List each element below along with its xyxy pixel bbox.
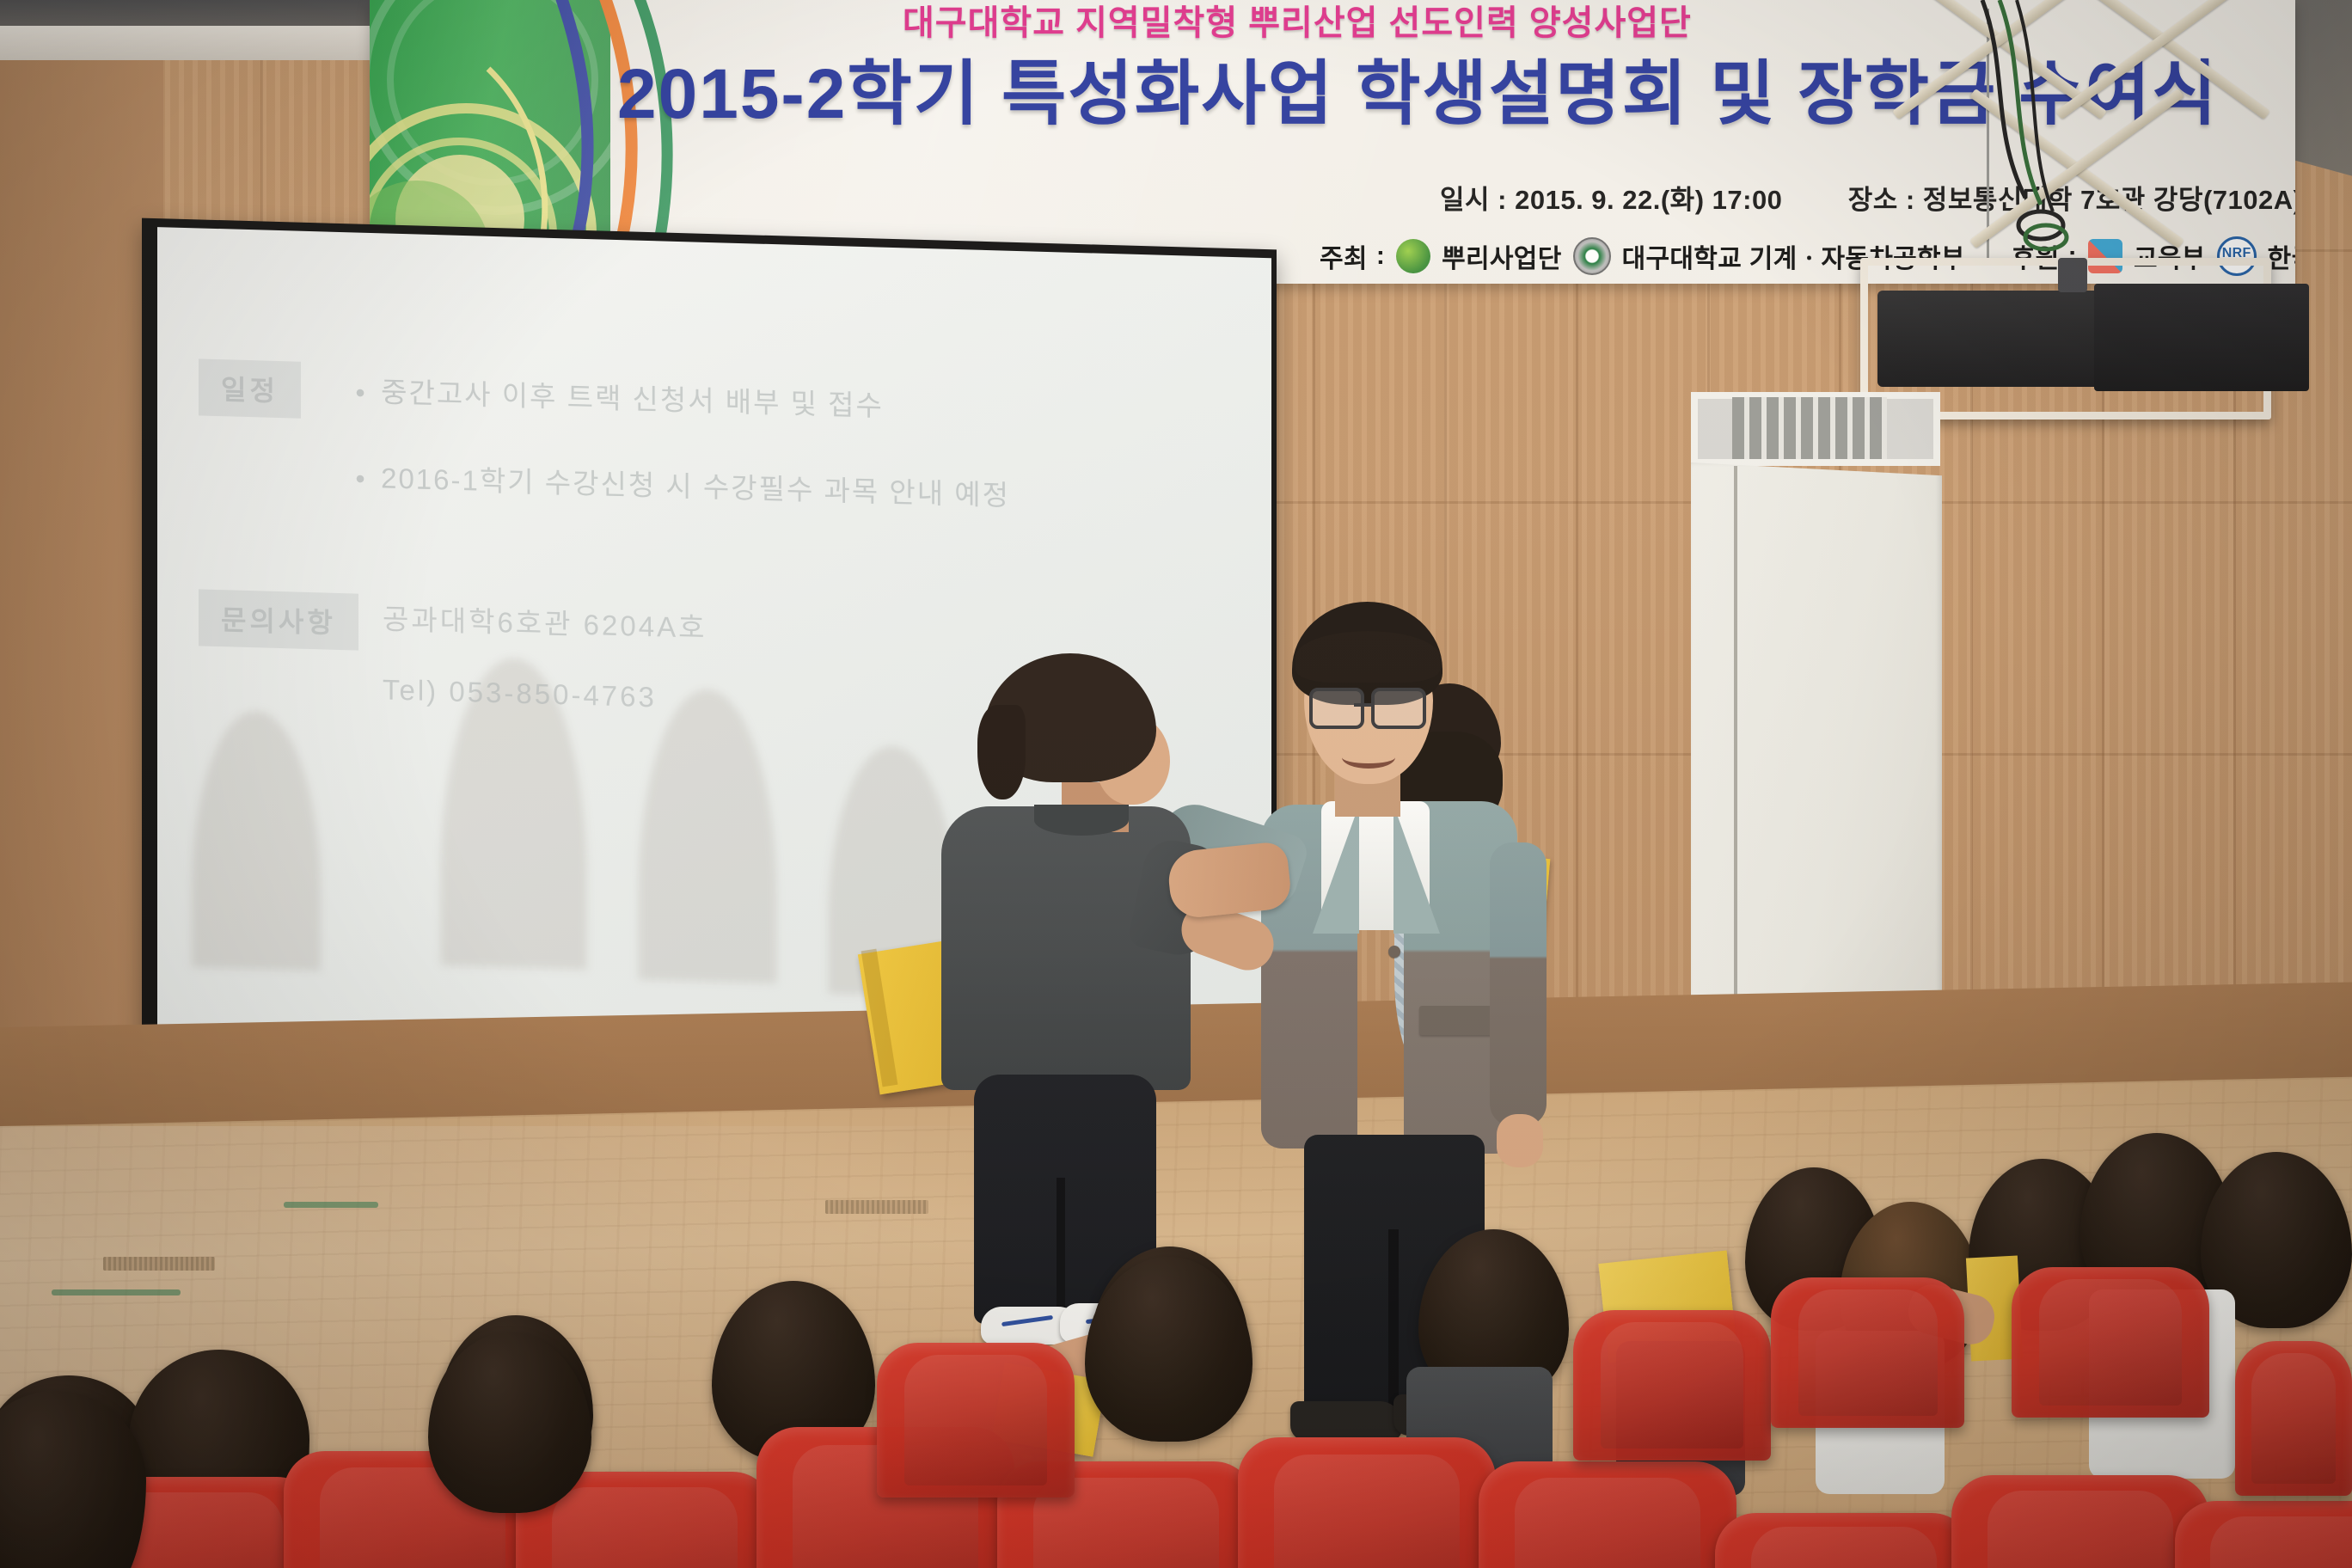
door-louver-vent-icon (1732, 397, 1887, 459)
slide-section-2-tag: 문의사항 (199, 589, 358, 650)
auditorium-seat[interactable] (1573, 1310, 1771, 1461)
handshake (1166, 841, 1292, 920)
professor-person (1259, 602, 1534, 1315)
floor-vent (103, 1257, 215, 1271)
auditorium-seat[interactable] (1238, 1437, 1496, 1568)
student-hair-side (977, 705, 1026, 799)
professor-right-arm (1490, 842, 1547, 1126)
projector-body-secondary (2094, 284, 2309, 391)
professor-jacket-pocket (1419, 1006, 1493, 1035)
auditorium-seat[interactable] (1715, 1513, 1973, 1568)
student-collar (1034, 805, 1129, 836)
professor-smile (1342, 746, 1395, 769)
rig-cables-icon (1931, 0, 2240, 284)
banner-host-1: 뿌리사업단 (1442, 237, 1562, 275)
banner-date-label: 일시 (1440, 185, 1490, 215)
auditorium-seat[interactable] (2235, 1341, 2352, 1496)
professor-hair-fringe (1295, 631, 1440, 683)
auditorium-seat[interactable] (1771, 1277, 1964, 1428)
auditorium-seat[interactable] (2012, 1267, 2209, 1418)
professor-jacket-button (1388, 946, 1400, 958)
floor-marker-tape (284, 1202, 378, 1208)
student-person (933, 653, 1225, 1307)
ppuri-logo-icon (1396, 239, 1430, 273)
professor-shoe (1290, 1401, 1402, 1441)
professor-leg-gap (1388, 1229, 1399, 1418)
slide-bullet-2: 2016-1학기 수강신청 시 수강필수 과목 안내 예정 (355, 454, 1010, 513)
auditorium-photo: 대구대학교 지역밀착형 뿌리산업 선도인력 양성사업단 2015-2학기 특성화… (0, 0, 2352, 1568)
banner-host-label: 주최 (1320, 237, 1368, 275)
auditorium-seat[interactable] (2175, 1501, 2352, 1568)
slide-contact-address: 공과대학6호관 6204A호 (383, 596, 707, 646)
ceiling-strip-light (0, 26, 404, 60)
auditorium-seat[interactable] (1479, 1461, 1736, 1568)
auditorium-seat[interactable] (1951, 1475, 2209, 1568)
floor-marker-tape (52, 1289, 181, 1295)
auditorium-seat[interactable] (877, 1343, 1075, 1498)
slide-contact-phone: Tel) 053-850-4763 (383, 673, 657, 714)
glasses-icon (1309, 688, 1364, 729)
student-leg-gap (1057, 1178, 1065, 1315)
slide-section-1-tag: 일정 (199, 358, 301, 418)
banner-date-value: 2015. 9. 22.(화) 17:00 (1515, 185, 1782, 215)
daegu-university-logo-icon (1573, 237, 1611, 275)
slide-bullet-1: 중간고사 이후 트랙 신청서 배부 및 접수 (355, 368, 884, 424)
professor-right-hand (1497, 1114, 1543, 1167)
glasses-icon (1371, 688, 1426, 729)
glasses-bridge-icon (1354, 703, 1371, 707)
floor-vent (825, 1200, 928, 1214)
projector-lens-icon (2058, 258, 2087, 292)
